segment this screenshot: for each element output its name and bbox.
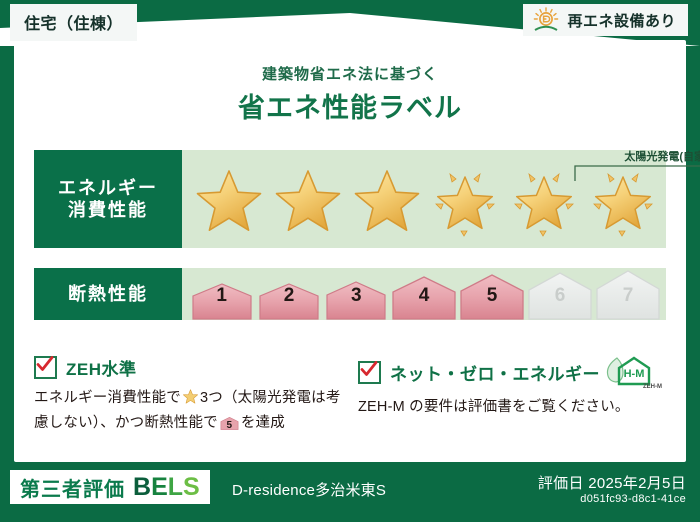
label-title: 省エネ性能ラベル [0,86,700,125]
energy-performance-row: エネルギー 消費性能 太陽光発電(自家消費)分 [34,150,666,248]
net-zero-energy-header: ネット・ゼロ・エネルギー H-M ZEH-M [358,355,678,389]
bels-certification-chip: 第三者評価 BELS [10,470,210,504]
insulation-performance-label: 断熱性能 [34,268,182,320]
renewable-energy-badge: 再エネ設備あり [523,4,688,36]
insulation-level-scale: 1 2 3 4 [188,268,662,320]
solar-sun-icon [531,7,561,33]
nze-checkbox [358,361,381,384]
evaluation-id: d051fc93-d8c1-41ce [580,493,686,505]
star-1 [192,164,266,238]
net-zero-energy-block: ネット・ゼロ・エネルギー H-M ZEH-M ZEH-M の要件は評価書をご覧く… [358,355,678,418]
building-name: D-residence多治米東S [232,479,386,500]
zeh-standard-description: エネルギー消費性能で3つ（太陽光発電は考慮しない）、かつ断熱性能で5を達成 [34,387,354,438]
insulation-level-number: 2 [255,285,322,307]
insulation-level-2: 2 [255,280,322,320]
footer-bar: 第三者評価 BELS D-residence多治米東S 評価日 2025年2月5… [0,462,700,522]
insulation-level-1: 1 [188,280,255,320]
third-party-label: 第三者評価 [20,473,125,502]
star-icon [350,164,424,238]
insulation-level-number: 6 [526,285,594,307]
bels-logo: BELS [133,473,200,502]
zeh-checkbox [34,356,57,379]
inline-star-icon [182,388,199,412]
insulation-performance-row: 断熱性能 [34,268,666,320]
inline-house-number: 5 [220,418,239,433]
insulation-level-4: 4 [390,274,458,320]
net-zero-energy-description: ZEH-M の要件は評価書をご覧ください。 [358,396,678,418]
insulation-performance-body: 1 2 3 4 [182,268,666,320]
zeh-m-logo-sub: ZEH-M [643,384,662,390]
housing-type-chip: 住宅（住棟） [10,4,137,41]
bels-energy-label: 住宅（住棟） 再エネ設備あり 建築物省エネ法に基づく 省エネ性能ラベル エネルギ… [0,0,700,522]
renewable-badge-label: 再エネ設備あり [567,10,676,31]
insulation-level-number: 1 [188,285,255,307]
star-rating [190,156,662,246]
energy-performance-body: 太陽光発電(自家消費)分 [182,150,666,248]
insulation-level-number: 3 [323,285,390,307]
housing-type-label: 住宅（住棟） [24,16,123,33]
star-3 [350,164,424,238]
zeh-standard-block: ZEH水準 エネルギー消費性能で3つ（太陽光発電は考慮しない）、かつ断熱性能で5… [34,355,354,438]
evaluation-date: 評価日 2025年2月5日 [538,472,686,493]
insulation-level-number: 4 [390,285,458,307]
energy-label-line1: エネルギー [58,177,158,200]
energy-label-line2: 消費性能 [68,199,148,222]
insulation-level-7: 7 [594,268,662,320]
insulation-label-text: 断熱性能 [68,283,148,306]
star-6-solar [586,164,660,238]
check-icon [35,355,54,374]
zeh-m-logo: H-M ZEH-M [604,355,660,389]
energy-performance-label: エネルギー 消費性能 [34,150,182,248]
insulation-level-number: 7 [594,285,662,307]
zeh-m-logo-text: H-M [624,368,645,380]
inline-house-5-icon: 5 [220,415,239,438]
zeh-desc-part3: を達成 [241,415,285,431]
check-icon [359,360,378,379]
star-icon [192,164,266,238]
insulation-level-3: 3 [323,278,390,320]
insulation-level-5: 5 [458,272,526,320]
star-shine-icon [507,164,581,238]
evaluation-date-value: 2025年2月5日 [588,475,686,492]
zeh-standard-header: ZEH水準 [34,355,354,380]
star-4-solar [428,164,502,238]
star-shine-icon [428,164,502,238]
zeh-standard-title: ZEH水準 [66,355,137,380]
label-subtitle: 建築物省エネ法に基づく [0,63,700,84]
insulation-level-number: 5 [458,285,526,307]
star-shine-icon [586,164,660,238]
insulation-level-6: 6 [526,270,594,320]
star-icon [271,164,345,238]
star-2 [271,164,345,238]
net-zero-energy-title: ネット・ゼロ・エネルギー [390,360,600,385]
star-5-solar [507,164,581,238]
zeh-desc-part1: エネルギー消費性能で [34,390,181,406]
evaluation-date-label: 評価日 [538,475,584,492]
